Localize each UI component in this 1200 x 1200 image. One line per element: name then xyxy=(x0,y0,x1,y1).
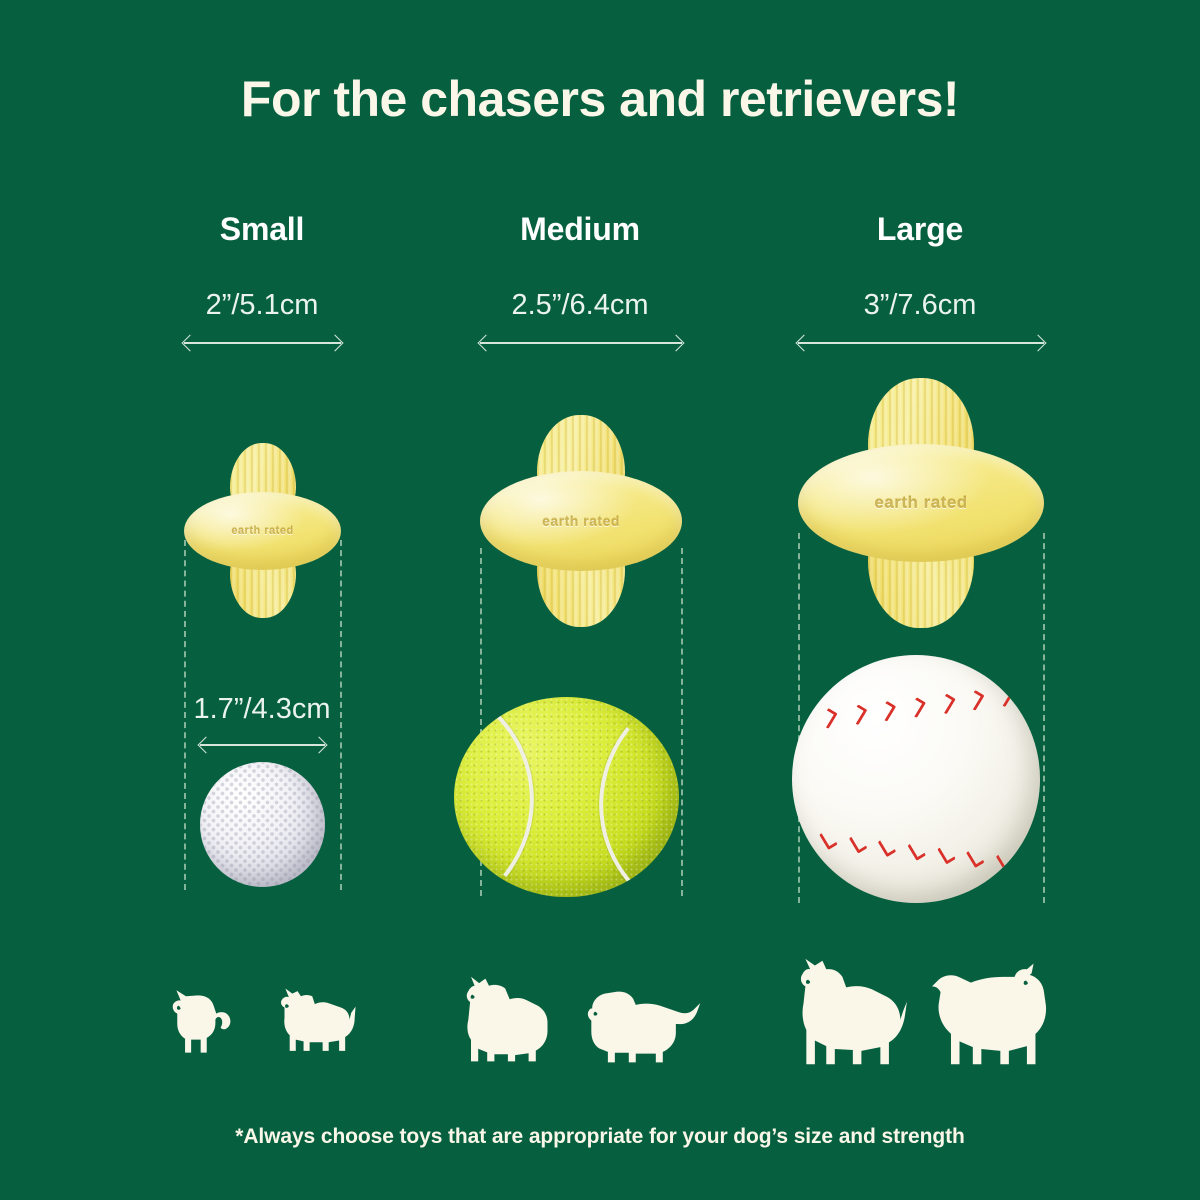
baseball-stitch xyxy=(907,840,926,861)
baseball-stitch xyxy=(995,686,1014,707)
measure-arrow-toy-medium xyxy=(480,336,682,350)
ball-dimension-small: 1.7”/4.3cm xyxy=(112,693,412,726)
toy-body: earth rated xyxy=(480,471,682,571)
baseball-stitch xyxy=(995,851,1014,872)
baseball-stitch xyxy=(937,843,956,864)
terrier-icon xyxy=(271,985,363,1063)
column-heading-large: Large xyxy=(770,211,1070,248)
arrow-head-left-icon xyxy=(182,335,199,352)
toy-dimension-medium: 2.5”/6.4cm xyxy=(430,289,730,322)
toy-large: earth rated xyxy=(798,378,1044,628)
arrow-head-right-icon xyxy=(311,737,328,754)
baseball-stitch xyxy=(1025,683,1040,704)
measure-arrow-toy-large xyxy=(798,336,1044,350)
toy-body: earth rated xyxy=(184,492,341,570)
arrow-bar xyxy=(200,744,325,746)
baseball-stitch xyxy=(848,833,867,854)
baseball-stitch xyxy=(966,847,985,868)
baseball xyxy=(792,655,1040,903)
column-heading-small: Small xyxy=(112,211,412,248)
arrow-head-right-icon xyxy=(668,335,685,352)
tennis-ball xyxy=(454,697,679,897)
baseball-seam-bottom xyxy=(792,820,1040,887)
arrow-bar xyxy=(798,342,1044,344)
toy-medium: earth rated xyxy=(480,415,682,627)
chihuahua-icon xyxy=(161,985,249,1063)
column-heading-medium: Medium xyxy=(430,211,730,248)
golf-ball-dimples xyxy=(200,762,325,887)
baseball-stitch xyxy=(907,697,926,718)
dog-silhouettes-large xyxy=(770,950,1070,1068)
toy-brand-text: earth rated xyxy=(231,525,293,537)
dog-silhouettes-small xyxy=(112,975,412,1063)
toy-brand-text: earth rated xyxy=(874,493,967,513)
boxer-icon xyxy=(791,956,909,1068)
dog-silhouettes-medium xyxy=(430,965,730,1065)
toy-body: earth rated xyxy=(798,444,1044,562)
baseball-stitch xyxy=(1025,854,1040,875)
retriever-icon xyxy=(927,956,1049,1068)
baseball-stitch xyxy=(937,693,956,714)
arrow-head-left-icon xyxy=(796,335,813,352)
baseball-stitch xyxy=(819,708,838,729)
toy-brand-text: earth rated xyxy=(542,513,620,529)
measure-arrow-ball-small xyxy=(200,738,325,752)
footnote: *Always choose toys that are appropriate… xyxy=(0,1125,1200,1149)
french-bulldog-icon xyxy=(458,975,556,1065)
baseball-seam-top xyxy=(792,670,1040,737)
baseball-stitch xyxy=(878,836,897,857)
arrow-bar xyxy=(480,342,682,344)
toy-small: earth rated xyxy=(184,443,341,618)
infographic-canvas: For the chasers and retrievers! Small 2”… xyxy=(0,0,1200,1200)
column-small: Small 2”/5.1cm earth rated 1.7”/4.3cm xyxy=(112,0,412,1200)
toy-dimension-small: 2”/5.1cm xyxy=(112,289,412,322)
baseball-stitch xyxy=(966,690,985,711)
toy-dimension-large: 3”/7.6cm xyxy=(770,289,1070,322)
measure-arrow-toy-small xyxy=(184,336,341,350)
arrow-head-left-icon xyxy=(478,335,495,352)
arrow-head-left-icon xyxy=(198,737,215,754)
baseball-stitch xyxy=(878,701,897,722)
golf-ball xyxy=(200,762,325,887)
dachshund-icon xyxy=(580,983,702,1065)
column-large: Large 3”/7.6cm earth rated xyxy=(770,0,1070,1200)
arrow-head-right-icon xyxy=(327,335,344,352)
column-medium: Medium 2.5”/6.4cm earth rated xyxy=(430,0,730,1200)
arrow-bar xyxy=(184,342,341,344)
baseball-stitch xyxy=(819,829,838,850)
baseball-stitch xyxy=(848,704,867,725)
arrow-head-right-icon xyxy=(1030,335,1047,352)
